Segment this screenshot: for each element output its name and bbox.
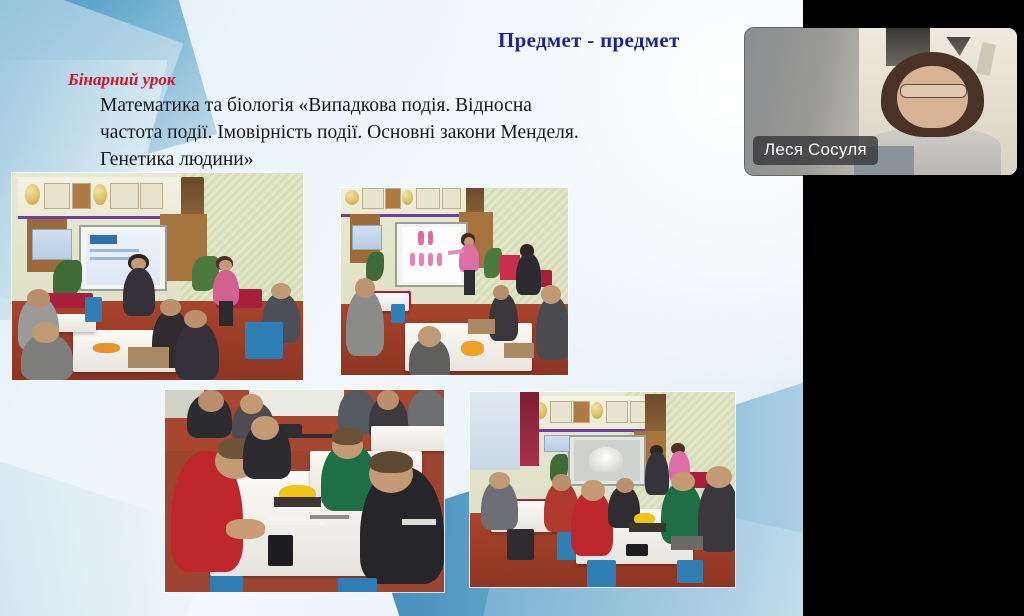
lesson-description: Математика та біологія «Випадкова подія.… [100,92,700,173]
lesson-line-1: Математика та біологія «Випадкова подія.… [100,92,700,119]
screen-root: Предмет - предмет Бінарний урок Математи… [0,0,1024,616]
slide-title: Предмет - предмет [498,28,680,53]
eyeglasses-icon [900,84,967,98]
photo-classroom-genetics-slide [341,188,568,375]
lesson-line-3: Генетика людини» [100,146,700,173]
photo-students-writing-worksheets [165,390,444,592]
photo-classroom-projector-teacher [12,173,303,380]
participant-video-tile[interactable]: Леся Сосуля [745,28,1017,175]
lesson-type-heading: Бінарний урок [68,70,176,90]
slide-page-number: 15 [736,580,751,597]
photo-classroom-wide-groupwork [470,392,735,587]
participant-name-label: Леся Сосуля [753,136,878,165]
lesson-line-2: частота події. Імовірність події. Основн… [100,119,700,146]
presentation-slide: Предмет - предмет Бінарний урок Математи… [0,0,803,616]
